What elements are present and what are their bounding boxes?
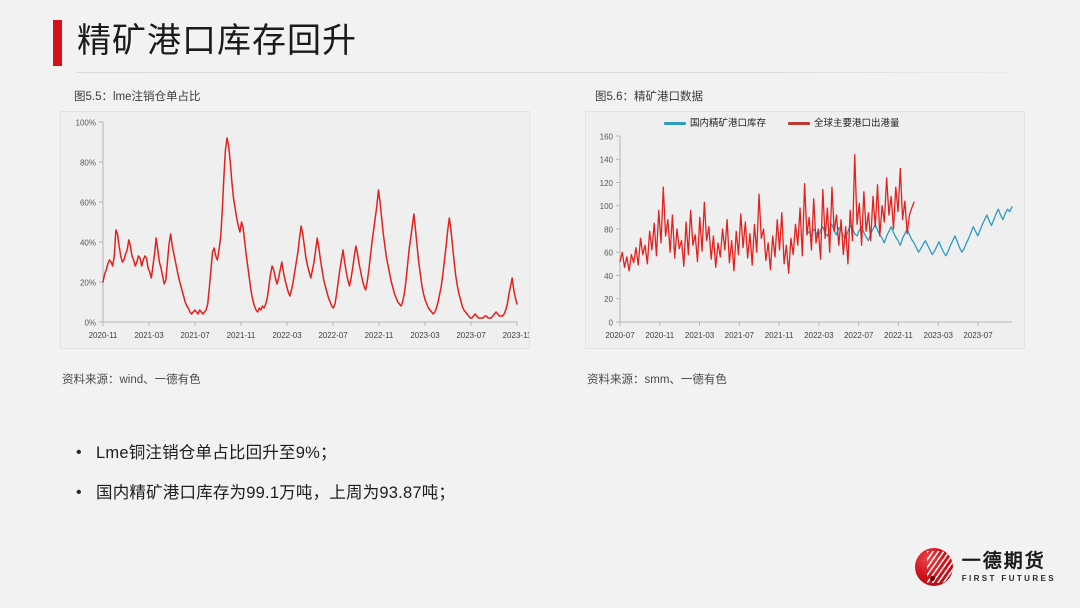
y-tick-label: 60 — [604, 249, 613, 258]
bullet-text: 国内精矿港口库存为99.1万吨，上周为93.87吨； — [96, 480, 455, 506]
chart-right-svg: 0204060801001201401602020-072020-112021-… — [586, 112, 1024, 348]
x-tick-label: 2021-07 — [725, 331, 755, 340]
x-tick-label: 2022-07 — [844, 331, 874, 340]
y-tick-label: 0 — [609, 318, 614, 327]
chart-concentrate-port-data: 国内精矿港口库存 全球主要港口出港量 020406080100120140160… — [585, 111, 1025, 349]
x-tick-label: 2022-03 — [272, 331, 302, 340]
y-tick-label: 40% — [80, 238, 96, 247]
y-tick-label: 140 — [600, 156, 614, 165]
x-tick-label: 2020-11 — [89, 331, 118, 340]
figure-left-caption: 图5.5：lme注销仓单占比 — [74, 88, 530, 104]
y-tick-label: 80 — [604, 225, 613, 234]
chart-lme-cancelled-warrants: 0%20%40%60%80%100%2020-112021-032021-072… — [60, 111, 530, 349]
chart-right-legend: 国内精矿港口库存 全球主要港口出港量 — [664, 118, 900, 129]
bullet-marker: • — [70, 480, 96, 506]
legend-swatch-red — [788, 122, 810, 124]
y-tick-label: 20 — [604, 295, 613, 304]
page-title: 精矿港口库存回升 — [77, 16, 357, 66]
series-line-1 — [620, 155, 914, 274]
legend-item-domestic-inventory: 国内精矿港口库存 — [664, 118, 766, 129]
y-tick-label: 0% — [84, 318, 96, 327]
x-tick-label: 2021-03 — [134, 331, 164, 340]
x-tick-label: 2021-11 — [765, 331, 794, 340]
y-tick-label: 60% — [80, 198, 96, 207]
x-tick-label: 2022-11 — [365, 331, 394, 340]
brand-logo: 一德期货 FIRST FUTURES — [915, 548, 1056, 586]
chart-left-svg: 0%20%40%60%80%100%2020-112021-032021-072… — [61, 112, 529, 348]
y-tick-label: 40 — [604, 272, 613, 281]
y-tick-label: 100 — [600, 202, 614, 211]
figure-right-source: 资料来源：smm、一德有色 — [587, 371, 1025, 387]
y-tick-label: 20% — [80, 278, 96, 287]
x-tick-label: 2022-03 — [804, 331, 834, 340]
x-tick-label: 2023-11 — [503, 331, 529, 340]
title-accent-bar — [53, 20, 62, 66]
y-tick-label: 100% — [76, 118, 96, 127]
bullet-item: • 国内精矿港口库存为99.1万吨，上周为93.87吨； — [70, 480, 830, 506]
y-tick-label: 120 — [600, 179, 614, 188]
legend-item-global-shipments: 全球主要港口出港量 — [788, 118, 900, 129]
x-tick-label: 2020-07 — [605, 331, 635, 340]
slide-header: 精矿港口库存回升 — [0, 0, 1080, 86]
series-line-0 — [103, 138, 517, 318]
x-tick-label: 2022-11 — [884, 331, 913, 340]
bullet-text: Lme铜注销仓单占比回升至9%； — [96, 440, 337, 466]
legend-label-domestic-inventory: 国内精矿港口库存 — [690, 118, 766, 129]
figure-left: 图5.5：lme注销仓单占比 0%20%40%60%80%100%2020-11… — [60, 88, 530, 387]
bullet-list: • Lme铜注销仓单占比回升至9%； • 国内精矿港口库存为99.1万吨，上周为… — [70, 440, 830, 520]
x-tick-label: 2020-11 — [645, 331, 674, 340]
x-tick-label: 2021-03 — [685, 331, 715, 340]
x-tick-label: 2021-07 — [180, 331, 210, 340]
figure-right: 图5.6：精矿港口数据 国内精矿港口库存 全球主要港口出港量 020406080… — [585, 88, 1025, 387]
logo-text: 一德期货 FIRST FUTURES — [962, 552, 1056, 583]
logo-name-en: FIRST FUTURES — [962, 575, 1056, 583]
x-tick-label: 2021-11 — [227, 331, 256, 340]
legend-label-global-shipments: 全球主要港口出港量 — [814, 118, 900, 129]
slide: 精矿港口库存回升 图5.5：lme注销仓单占比 0%20%40%60%80%10… — [0, 0, 1080, 608]
logo-mark-icon — [915, 548, 953, 586]
logo-name-cn: 一德期货 — [962, 552, 1056, 571]
header-divider — [77, 72, 1012, 73]
x-tick-label: 2023-03 — [924, 331, 954, 340]
legend-swatch-blue — [664, 122, 686, 124]
x-tick-label: 2022-07 — [318, 331, 348, 340]
figure-left-source: 资料来源：wind、一德有色 — [62, 371, 530, 387]
y-tick-label: 80% — [80, 158, 96, 167]
x-tick-label: 2023-07 — [456, 331, 486, 340]
y-tick-label: 160 — [600, 132, 614, 141]
x-tick-label: 2023-07 — [963, 331, 993, 340]
bullet-item: • Lme铜注销仓单占比回升至9%； — [70, 440, 830, 466]
x-tick-label: 2023-03 — [410, 331, 440, 340]
figure-right-caption: 图5.6：精矿港口数据 — [595, 88, 1025, 104]
bullet-marker: • — [70, 440, 96, 466]
